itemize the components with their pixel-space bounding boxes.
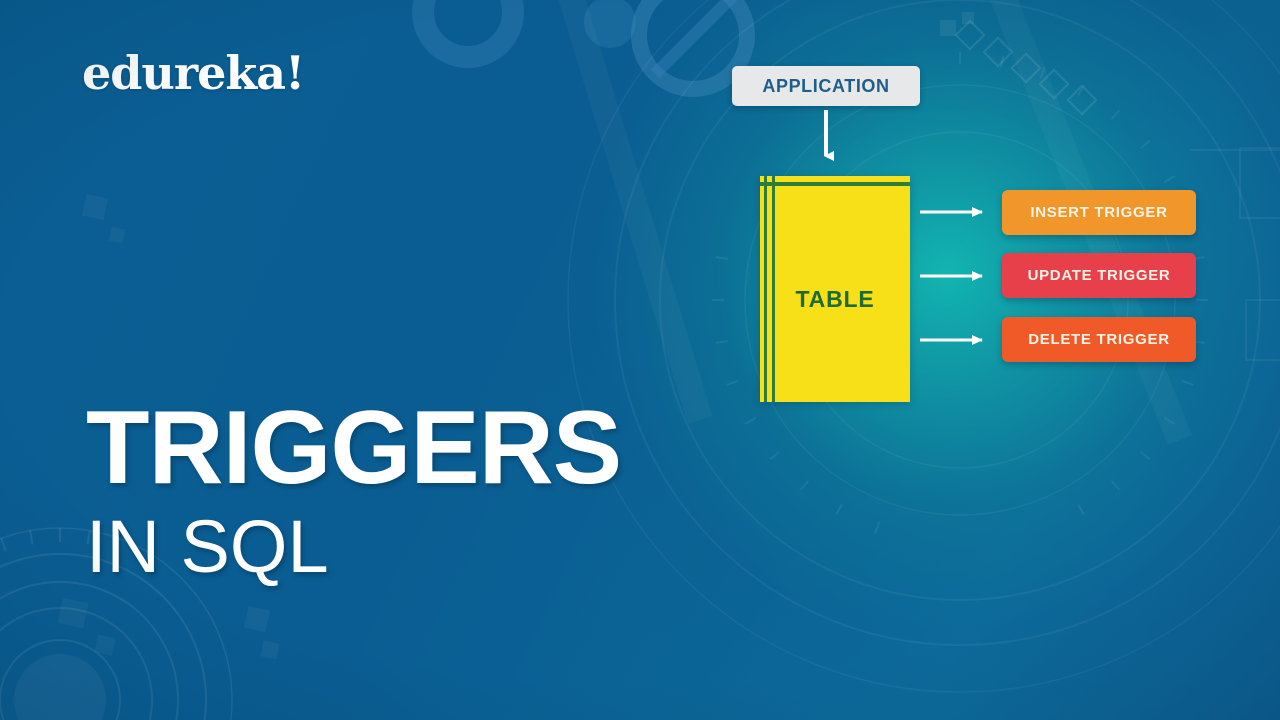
vignette-overlay [0,0,1280,720]
slide-canvas: edureka! TRIGGERS IN SQL APPLICATION TAB… [0,0,1280,720]
